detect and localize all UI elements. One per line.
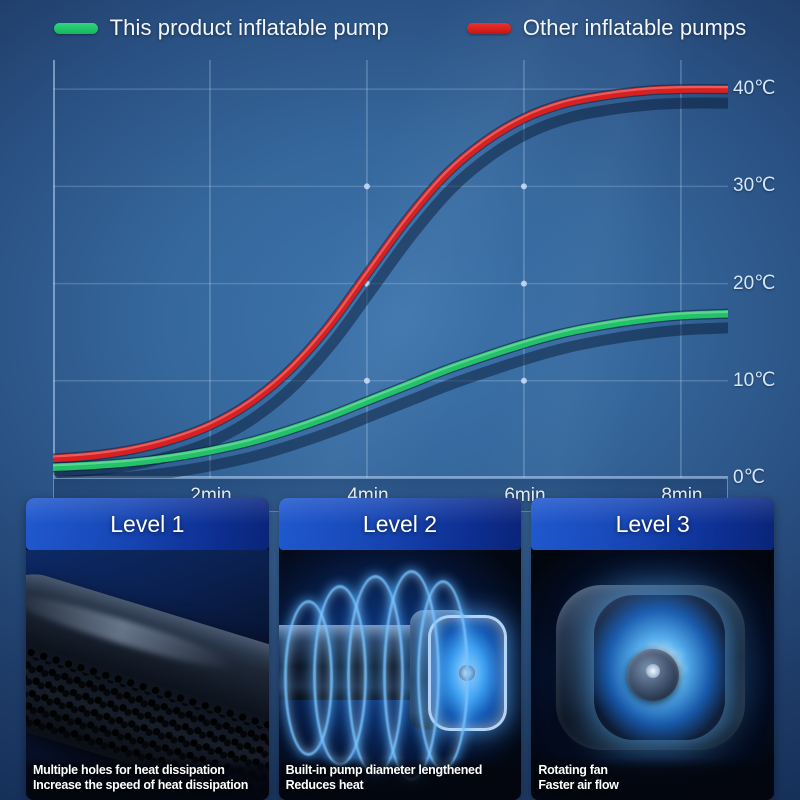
panel-caption-level-3: Rotating fan Faster air flow bbox=[531, 758, 774, 800]
legend-item-other-pumps: Other inflatable pumps bbox=[467, 15, 747, 41]
caption-line: Rotating fan bbox=[538, 763, 767, 778]
y-axis-labels: 0℃10℃20℃30℃40℃ bbox=[733, 52, 795, 482]
caption-line: Increase the speed of heat dissipation bbox=[33, 778, 262, 793]
fan-hub-icon bbox=[627, 649, 679, 701]
y-axis-tick-label: 0℃ bbox=[733, 466, 765, 489]
airflow-ring bbox=[417, 580, 469, 771]
panel-title-level-2: Level 2 bbox=[363, 511, 437, 538]
panel-level-2[interactable]: Level 2 Built-in pump diameter lengthene… bbox=[279, 498, 522, 800]
caption-line: Reduces heat bbox=[286, 778, 515, 793]
airflow-spiral-pump-image: Built-in pump diameter lengthened Reduce… bbox=[279, 550, 522, 800]
y-axis-tick-label: 40℃ bbox=[733, 77, 775, 100]
y-axis-tick-label: 10℃ bbox=[733, 369, 775, 392]
chart-plot-area bbox=[53, 60, 728, 478]
legend-item-this-product: This product inflatable pump bbox=[54, 15, 389, 41]
chart-legend: This product inflatable pump Other infla… bbox=[0, 0, 800, 56]
legend-label-this-product: This product inflatable pump bbox=[110, 15, 389, 41]
rotating-fan-image: Rotating fan Faster air flow bbox=[531, 550, 774, 800]
panel-title-level-1: Level 1 bbox=[110, 511, 184, 538]
panel-level-3[interactable]: Level 3 Rotating fan Faster air flow bbox=[531, 498, 774, 800]
y-axis-tick-label: 20℃ bbox=[733, 272, 775, 295]
legend-label-other-pumps: Other inflatable pumps bbox=[523, 15, 747, 41]
panel-caption-level-1: Multiple holes for heat dissipation Incr… bbox=[26, 758, 269, 800]
panel-caption-level-2: Built-in pump diameter lengthened Reduce… bbox=[279, 758, 522, 800]
temperature-chart: 0℃10℃20℃30℃40℃ 2min4min6min8min bbox=[0, 52, 800, 482]
line-swatch-green-icon bbox=[54, 23, 98, 34]
panel-header-level-1: Level 1 bbox=[26, 498, 269, 550]
chart-svg bbox=[53, 60, 728, 478]
product-infographic: This product inflatable pump Other infla… bbox=[0, 0, 800, 800]
caption-line: Multiple holes for heat dissipation bbox=[33, 763, 262, 778]
panel-level-1[interactable]: Level 1 Multiple holes for heat dissipat… bbox=[26, 498, 269, 800]
perforated-pump-body-image: Multiple holes for heat dissipation Incr… bbox=[26, 550, 269, 800]
panel-header-level-3: Level 3 bbox=[531, 498, 774, 550]
y-axis-tick-label: 30℃ bbox=[733, 174, 775, 197]
caption-line: Faster air flow bbox=[538, 778, 767, 793]
panel-title-level-3: Level 3 bbox=[616, 511, 690, 538]
level-panels: Level 1 Multiple holes for heat dissipat… bbox=[0, 498, 800, 800]
panel-header-level-2: Level 2 bbox=[279, 498, 522, 550]
caption-line: Built-in pump diameter lengthened bbox=[286, 763, 515, 778]
line-swatch-red-icon bbox=[467, 23, 511, 34]
